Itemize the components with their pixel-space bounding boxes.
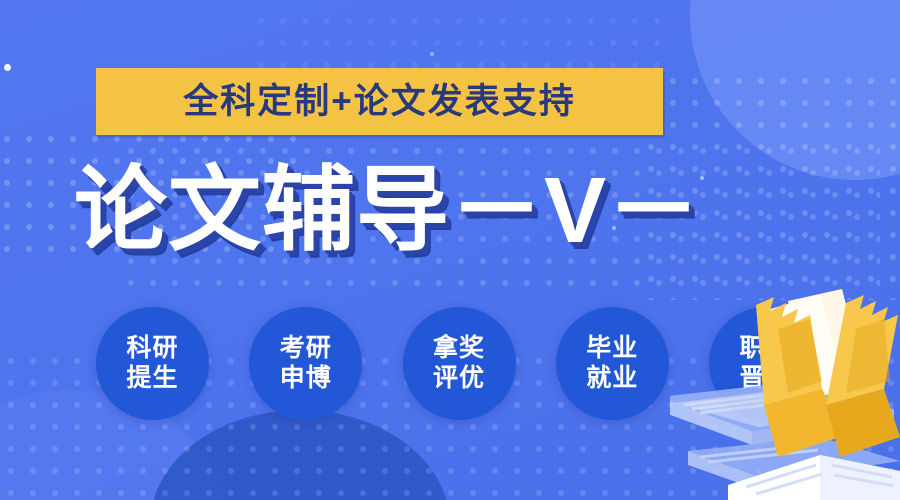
badge-biye-jiuye[interactable]: 毕业 就业 [556, 307, 669, 420]
badge-line-1: 拿奖 [433, 333, 485, 364]
badge-line-2: 就业 [586, 363, 638, 394]
promo-ribbon-text: 全科定制+论文发表支持 [183, 84, 575, 119]
badge-line-1: 考研 [280, 333, 332, 364]
books-illustration-icon [670, 285, 900, 500]
headline-title: 论文辅导－V－ [74, 160, 701, 260]
promo-ribbon: 全科定制+论文发表支持 [96, 68, 663, 135]
badge-najiang-pingyou[interactable]: 拿奖 评优 [403, 307, 516, 420]
banner-canvas: 全科定制+论文发表支持 论文辅导－V－ 科研 提生 考研 申博 拿奖 评优 毕业… [0, 0, 900, 500]
badge-line-2: 评优 [433, 363, 485, 394]
badge-line-1: 科研 [126, 333, 178, 364]
sparkle-dot-left [4, 64, 11, 71]
badge-line-2: 申博 [280, 363, 332, 394]
badge-line-2: 提生 [126, 363, 178, 394]
badge-kaoyan-shenbo[interactable]: 考研 申博 [249, 307, 362, 420]
badge-keyan-tisheng[interactable]: 科研 提生 [96, 307, 209, 420]
sparkle-dot-upper-mid [430, 52, 434, 56]
badge-line-1: 毕业 [586, 333, 638, 364]
